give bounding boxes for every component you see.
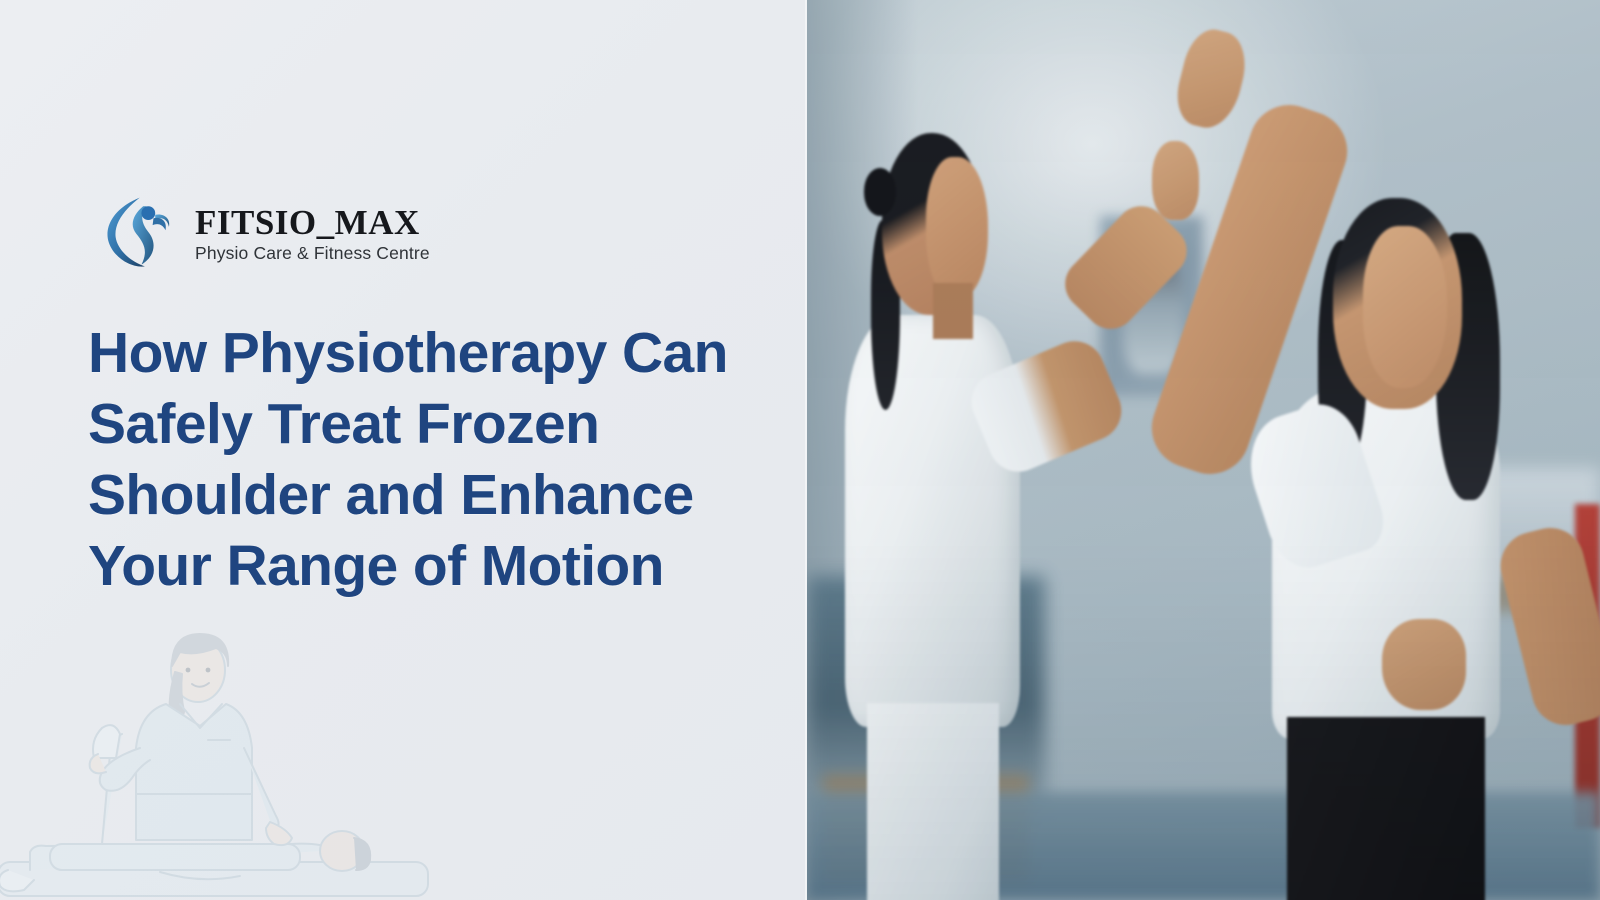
page-title: How Physiotherapy Can Safely Treat Froze… xyxy=(88,318,788,602)
brand-name: FITSIO_MAX xyxy=(195,205,430,240)
brand-tagline: Physio Care & Fitness Centre xyxy=(195,245,430,263)
headline-line-1: How Physiotherapy Can xyxy=(88,318,788,389)
banner-root: FITSIO_MAX Physio Care & Fitness Centre … xyxy=(0,0,1600,900)
headline-line-4: Your Range of Motion xyxy=(88,531,788,602)
photo-color-grade xyxy=(807,0,1600,900)
physiotherapist-leg-raise-illustration xyxy=(0,608,460,900)
left-content-panel: FITSIO_MAX Physio Care & Fitness Centre … xyxy=(0,0,805,900)
fitsio-max-logo-mark xyxy=(95,188,181,276)
headline-line-2: Safely Treat Frozen xyxy=(88,389,788,460)
brand-logo[interactable]: FITSIO_MAX Physio Care & Fitness Centre xyxy=(95,188,430,276)
photo-scene xyxy=(807,0,1600,900)
headline-line-3: Shoulder and Enhance xyxy=(88,460,788,531)
shoulder-mobilisation-photo xyxy=(805,0,1600,900)
